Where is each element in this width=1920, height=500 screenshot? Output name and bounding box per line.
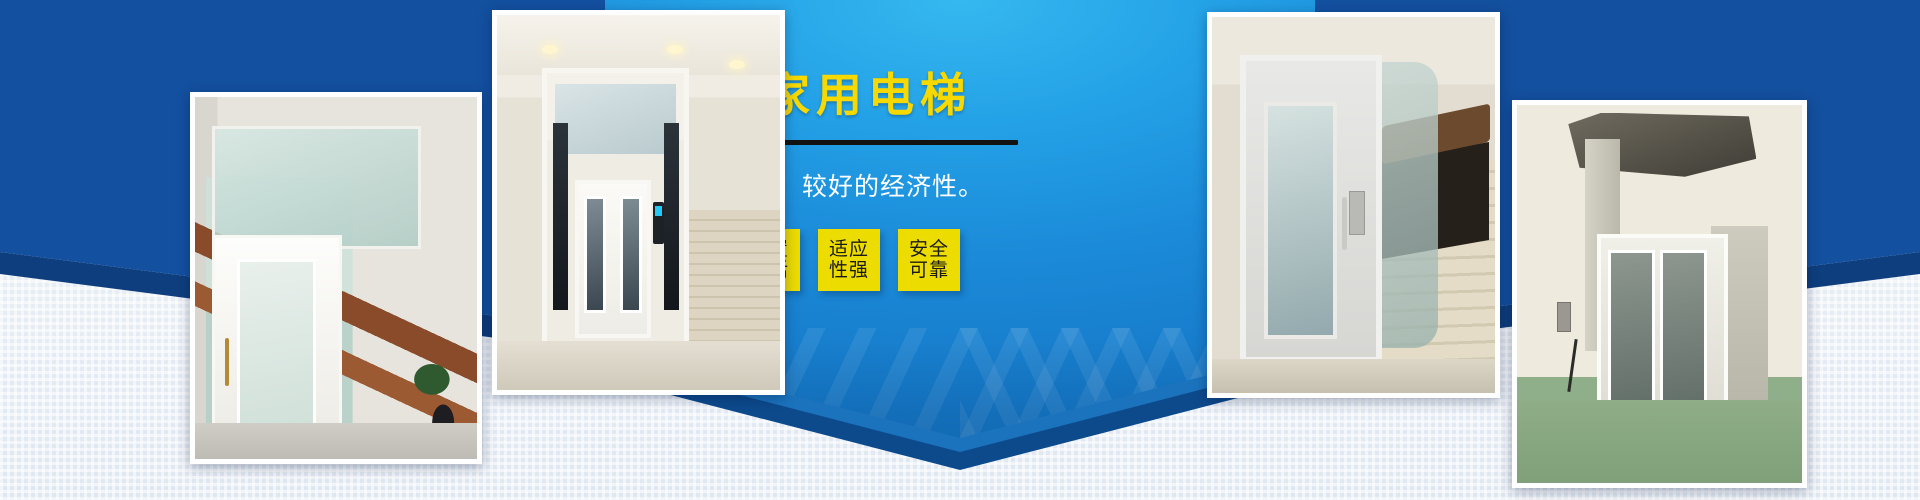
cabin-door-glass-right (620, 196, 642, 313)
elevator-cabin (1240, 55, 1382, 363)
photo-home-elevator-glass-shaft-with-staircase (190, 92, 482, 464)
shaft-gap-right (664, 123, 679, 309)
elevator-shaft (542, 68, 689, 361)
feature-badge[interactable]: 适应 性强 (818, 229, 880, 291)
elevator-cabin-doors (575, 180, 652, 338)
shaft-gap-left (553, 123, 568, 309)
floor-surface (195, 423, 477, 459)
cabin-door-glass (1264, 102, 1337, 339)
staircase (689, 210, 780, 360)
feature-badge[interactable]: 安全 可靠 (898, 229, 960, 291)
door-glass (237, 259, 316, 442)
badge-line-1: 适应 (829, 239, 869, 260)
power-cable (1567, 339, 1577, 392)
photo-image (497, 15, 780, 390)
door-handle (225, 338, 229, 386)
ceiling-light (729, 60, 745, 69)
badge-line-2: 性强 (829, 260, 869, 281)
call-panel (653, 202, 664, 244)
floor-surface (1212, 359, 1495, 393)
door-handle (1342, 197, 1347, 250)
glass-upper-shaft (212, 126, 421, 249)
photo-image (1212, 17, 1495, 393)
photo-home-elevator-under-installation (1512, 100, 1807, 488)
floor-surface (1517, 400, 1802, 483)
home-elevator-banner: 家用电梯 低噪音，较好的经济性。 升降 平稳 配置 灵活 适应 性强 (0, 0, 1920, 500)
cabin-door-glass-left (584, 196, 606, 313)
badge-line-2: 可靠 (909, 260, 949, 281)
photo-image (1517, 105, 1802, 483)
call-panel (1349, 191, 1365, 235)
floor-surface (497, 341, 780, 390)
badge-line-1: 安全 (909, 239, 949, 260)
ceiling-light (667, 45, 683, 54)
control-box (1557, 302, 1571, 332)
photo-image (195, 97, 477, 459)
glass-upper-shaft (555, 84, 676, 155)
photo-home-elevator-corridor-installation (492, 10, 785, 395)
photo-home-elevator-stainless-steel-cabin (1207, 12, 1500, 398)
